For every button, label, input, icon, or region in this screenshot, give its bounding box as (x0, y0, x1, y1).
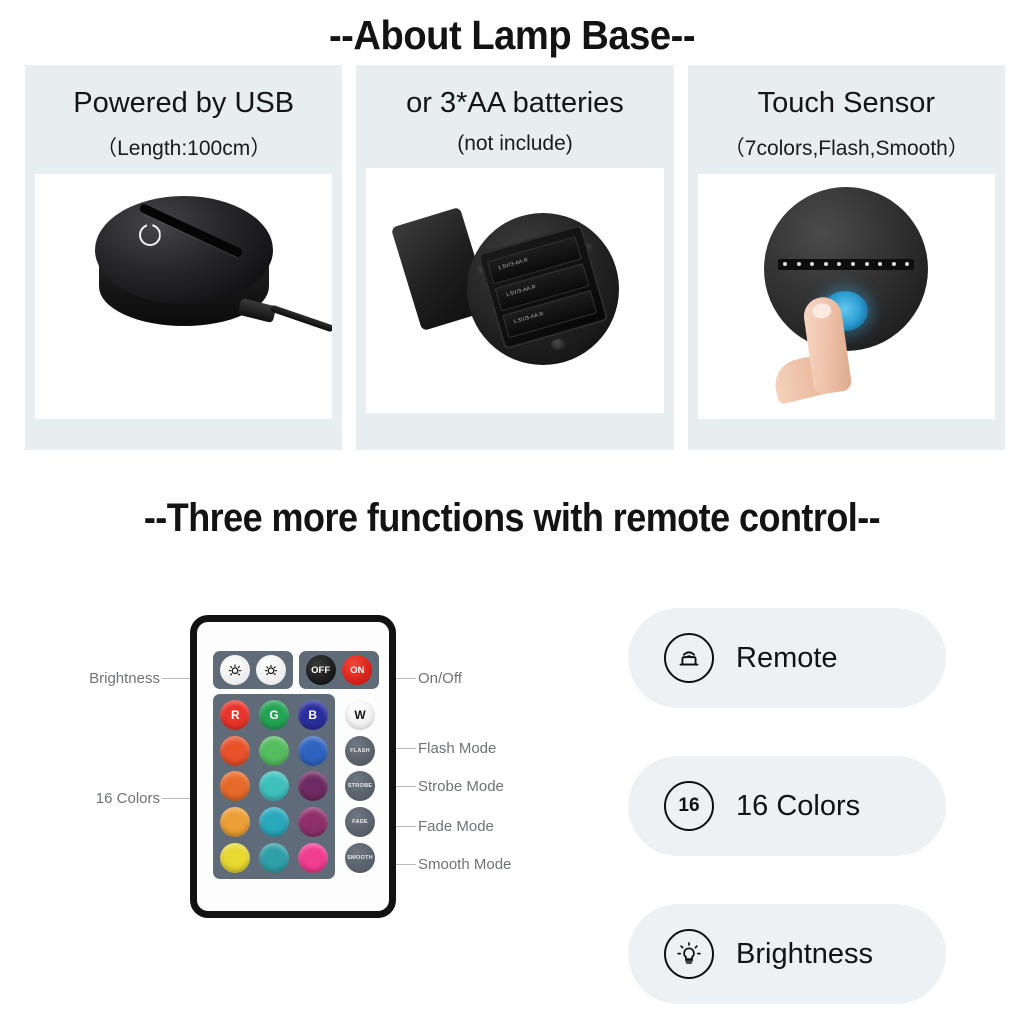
fade-mode-button[interactable]: FADE (345, 807, 375, 837)
touch-illustration (746, 187, 946, 387)
led-dot (783, 262, 787, 266)
card-subtitle: (not include) (457, 132, 573, 156)
led-dot (878, 262, 882, 266)
pill-label: 16 Colors (736, 790, 860, 823)
usb-wire (269, 304, 332, 332)
bulb-glyph (674, 939, 704, 969)
card-subtitle: （7colors,Flash,Smooth） (724, 132, 969, 162)
screw-hole (551, 339, 566, 350)
remote-signal-glyph (674, 643, 704, 673)
card-subtitle: （Length:100cm） (96, 132, 271, 162)
pill-label: Remote (736, 642, 838, 675)
leader-line (396, 826, 416, 827)
led-dot (905, 262, 909, 266)
led-dot (810, 262, 814, 266)
color-button-b[interactable]: B (298, 700, 328, 730)
led-dot (797, 262, 801, 266)
callout-on-off: On/Off (418, 670, 462, 687)
base-underside: 1.5V/3-AA.R 1.5V/3-AA.R 1.5V/3-AA.R (467, 213, 619, 365)
leader-line (396, 864, 416, 865)
mode-button-column: W FLASH STROBE FADE SMOOTH (341, 694, 379, 879)
leader-line (396, 786, 416, 787)
color-button[interactable] (298, 807, 328, 837)
color-button[interactable] (220, 843, 250, 873)
strobe-mode-button[interactable]: STROBE (345, 771, 375, 801)
card-aa-batteries: or 3*AA batteries (not include) 1.5V/3-A… (356, 65, 673, 450)
brightness-up-icon (227, 662, 243, 678)
callout-fade-mode: Fade Mode (418, 818, 494, 835)
flash-mode-button[interactable]: FLASH (345, 736, 375, 766)
brightness-down-button[interactable] (256, 655, 286, 685)
color-button[interactable] (220, 771, 250, 801)
color-button[interactable] (259, 736, 289, 766)
color-button[interactable] (298, 771, 328, 801)
battery-slot-label: 1.5V/3-AA.R (513, 311, 544, 325)
led-dot (824, 262, 828, 266)
sixteen-badge-icon: 16 (664, 781, 714, 831)
color-button[interactable] (220, 807, 250, 837)
card-touch-sensor: Touch Sensor （7colors,Flash,Smooth） (688, 65, 1005, 450)
lamp-base-cards: Powered by USB （Length:100cm） or (25, 65, 1005, 450)
color-button-g[interactable]: G (259, 700, 289, 730)
bulb-icon (664, 929, 714, 979)
battery-compartment-photo: 1.5V/3-AA.R 1.5V/3-AA.R 1.5V/3-AA.R (366, 168, 663, 413)
power-off-button[interactable]: OFF (306, 655, 336, 685)
usb-cable (239, 302, 333, 342)
lamp-base-illustration (89, 192, 279, 342)
callout-smooth-mode: Smooth Mode (418, 856, 511, 873)
battery-slot-label: 1.5V/3-AA.R (497, 258, 528, 272)
callout-brightness: Brightness (40, 670, 160, 687)
leader-line (396, 678, 416, 679)
remote-top-row: OFF ON (213, 651, 379, 689)
color-button[interactable] (259, 771, 289, 801)
callout-16-colors: 16 Colors (40, 790, 160, 807)
card-title: or 3*AA batteries (406, 88, 624, 120)
callout-flash-mode: Flash Mode (418, 740, 496, 757)
brightness-down-icon (263, 662, 279, 678)
remote-main-pad: R G B W F (213, 694, 379, 879)
battery-illustration: 1.5V/3-AA.R 1.5V/3-AA.R 1.5V/3-AA.R (405, 205, 625, 375)
callout-strobe-mode: Strobe Mode (418, 778, 504, 795)
color-button-white[interactable]: W (345, 700, 375, 730)
color-button[interactable] (298, 843, 328, 873)
led-dot (837, 262, 841, 266)
brightness-pad (213, 651, 293, 689)
color-button[interactable] (298, 736, 328, 766)
section-heading-lamp-base: --About Lamp Base-- (36, 12, 988, 59)
pill-label: Brightness (736, 938, 873, 971)
color-button-grid: R G B (213, 694, 335, 879)
color-button-r[interactable]: R (220, 700, 250, 730)
power-pad: OFF ON (299, 651, 379, 689)
base-top (95, 196, 273, 304)
color-button[interactable] (220, 736, 250, 766)
section-heading-remote-functions: --Three more functions with remote contr… (51, 496, 973, 541)
power-icon (139, 224, 161, 246)
remote-control[interactable]: OFF ON R G B (190, 615, 396, 918)
pill-remote[interactable]: Remote (628, 608, 946, 708)
card-powered-by-usb: Powered by USB （Length:100cm） (25, 65, 342, 450)
pill-brightness[interactable]: Brightness (628, 904, 946, 1004)
smooth-mode-button[interactable]: SMOOTH (345, 843, 375, 873)
led-dot (865, 262, 869, 266)
base-top-view (764, 187, 928, 351)
led-strip (778, 259, 914, 270)
lamp-base-usb-photo (35, 174, 332, 419)
card-title: Powered by USB (73, 88, 294, 120)
color-button[interactable] (259, 807, 289, 837)
remote-signal-icon (664, 633, 714, 683)
feature-pill-list: Remote 16 16 Colors (628, 608, 946, 1004)
card-title: Touch Sensor (758, 88, 935, 120)
product-infographic: --About Lamp Base-- Powered by USB （Leng… (0, 0, 1024, 1024)
led-dot (851, 262, 855, 266)
touch-sensor-photo (698, 174, 995, 419)
battery-slot-label: 1.5V/3-AA.R (505, 285, 536, 299)
color-button[interactable] (259, 843, 289, 873)
pill-16-colors[interactable]: 16 16 Colors (628, 756, 946, 856)
power-on-button[interactable]: ON (342, 655, 372, 685)
brightness-up-button[interactable] (220, 655, 250, 685)
remote-control-diagram: Brightness 16 Colors (40, 600, 600, 930)
led-dot (892, 262, 896, 266)
leader-line (396, 748, 416, 749)
